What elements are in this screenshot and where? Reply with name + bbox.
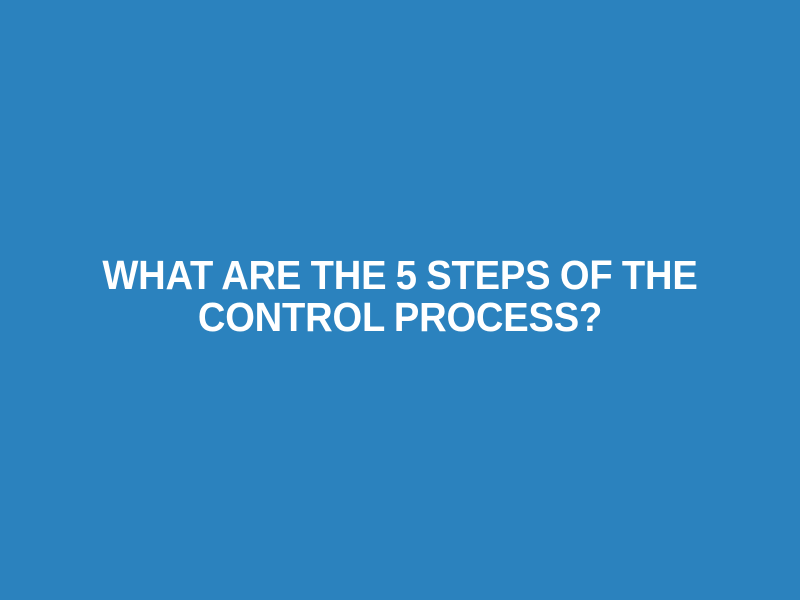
title-card: WHAT ARE THE 5 STEPS OF THE CONTROL PROC… [0, 0, 800, 600]
page-title: WHAT ARE THE 5 STEPS OF THE CONTROL PROC… [65, 254, 735, 338]
headline-block: WHAT ARE THE 5 STEPS OF THE CONTROL PROC… [40, 254, 760, 338]
